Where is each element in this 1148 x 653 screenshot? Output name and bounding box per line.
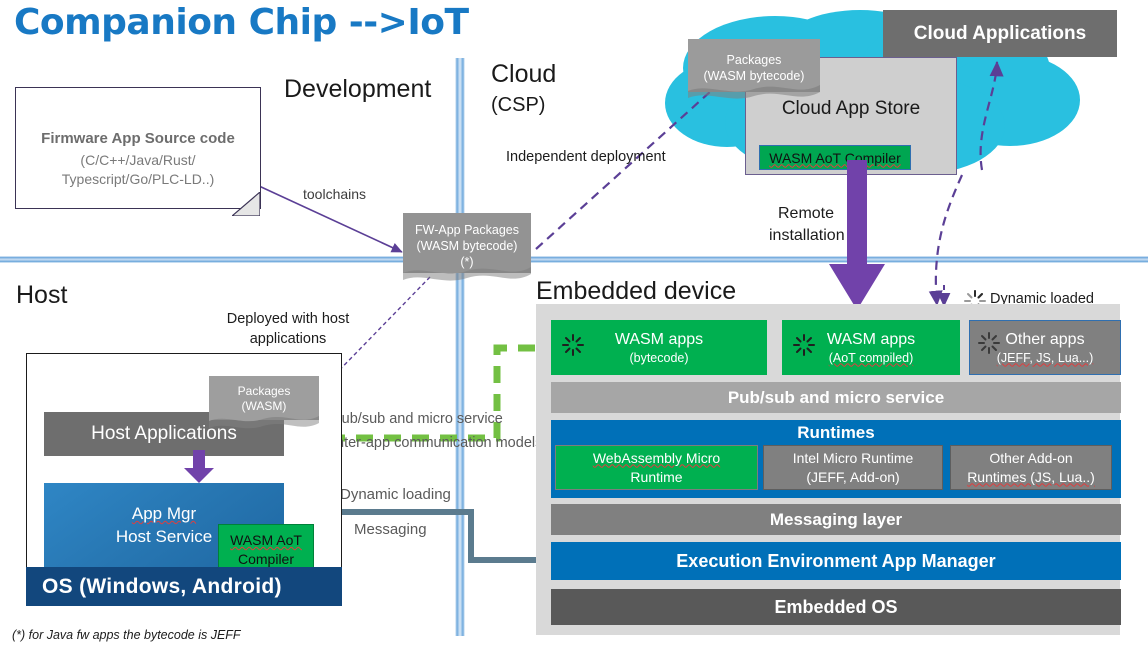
runtime-intel-micro[interactable]: Intel Micro Runtime (JEFF, Add-on) <box>763 445 943 490</box>
embedded-app-3-sub: (JEFF, JS, Lua...) <box>997 350 1094 366</box>
label-deployed-l2: applications <box>218 329 358 349</box>
callout-fw-packages-l1: FW-App Packages <box>415 222 519 238</box>
runtime-1-l1: WebAssembly Micro <box>593 449 720 468</box>
callout-host-packages-l1: Packages <box>238 384 291 399</box>
label-embedded-device: Embedded device <box>536 277 736 306</box>
firmware-source-box: Firmware App Source code (C/C++/Java/Rus… <box>15 87 261 209</box>
runtimes-header: Runtimes <box>551 423 1121 443</box>
callout-fw-packages-l3: (*) <box>415 254 519 270</box>
label-deployed-with-host: Deployed with host applications <box>218 309 358 349</box>
runtime-2-l2: (JEFF, Add-on) <box>806 468 899 487</box>
embedded-app-2-sub: (AoT compiled) <box>829 350 914 366</box>
runtime-2-l1: Intel Micro Runtime <box>793 449 914 468</box>
wasm-aot-host-l1: WASM AoT <box>230 531 302 550</box>
pubsub-micro-service-layer[interactable]: Pub/sub and micro service <box>551 382 1121 413</box>
firmware-source-line2: Typescript/Go/PLC-LD..) <box>62 170 215 189</box>
page-fold-icon <box>232 192 260 216</box>
messaging-layer-block[interactable]: Messaging layer <box>551 504 1121 535</box>
runtime-3-l1: Other Add-on <box>989 449 1072 468</box>
callout-host-packages-l2: (WASM) <box>238 399 291 414</box>
label-development: Development <box>284 75 431 104</box>
execution-environment-app-manager[interactable]: Execution Environment App Manager <box>551 542 1121 580</box>
runtime-1-l2: Runtime <box>630 468 682 487</box>
runtime-3-l2: Runtimes (JS, Lua..) <box>967 468 1095 487</box>
slide-canvas: Companion Chip -->IoT <box>0 0 1148 653</box>
spark-burst-icon <box>560 332 586 358</box>
callout-host-packages: Packages (WASM) <box>209 376 319 420</box>
runtime-webassembly-micro[interactable]: WebAssembly Micro Runtime <box>555 445 758 490</box>
runtime-other-addon[interactable]: Other Add-on Runtimes (JS, Lua..) <box>950 445 1112 490</box>
embedded-app-3-title: Other apps <box>1005 330 1084 350</box>
embedded-app-2-title: WASM apps <box>827 330 915 350</box>
host-os-bar: OS (Windows, Android) <box>26 567 342 606</box>
callout-cloud-packages: Packages (WASM bytecode) <box>688 39 820 92</box>
app-mgr-line1: App Mgr <box>132 502 196 525</box>
label-pubsub-micro-service-arrow: Pub/sub and micro service <box>332 411 503 427</box>
vertical-divider <box>455 58 465 636</box>
callout-cloud-packages-l1: Packages <box>704 52 805 68</box>
cloud-applications-block[interactable]: Cloud Applications <box>883 10 1117 57</box>
label-independent-deployment: Independent deployment <box>506 149 666 165</box>
host-flow-arrow <box>182 450 216 484</box>
callout-cloud-packages-l2: (WASM bytecode) <box>704 68 805 84</box>
horizontal-divider <box>0 256 1148 263</box>
label-cloud-sub: (CSP) <box>491 94 545 117</box>
cloud-app-store-label: Cloud App Store <box>746 98 956 120</box>
embedded-app-1-sub: (bytecode) <box>629 350 688 366</box>
callout-fw-packages-l2: (WASM bytecode) <box>415 238 519 254</box>
callout-fw-app-packages: FW-App Packages (WASM bytecode) (*) <box>403 213 531 273</box>
label-messaging: Messaging <box>354 521 427 538</box>
spark-burst-icon <box>791 332 817 358</box>
page-title: Companion Chip -->IoT <box>14 2 634 50</box>
remote-installation-arrow <box>825 160 889 312</box>
embedded-app-1-title: WASM apps <box>615 330 703 350</box>
label-toolchains: toolchains <box>303 186 366 202</box>
app-mgr-line2: Host Service <box>116 525 212 548</box>
spark-burst-icon <box>976 330 1002 356</box>
embedded-os-block[interactable]: Embedded OS <box>551 589 1121 625</box>
arrow-dynamic-loaded-device <box>936 175 962 305</box>
label-deployed-l1: Deployed with host <box>218 309 358 329</box>
label-inter-app-models-arrow: Inter-app communication models <box>332 435 542 451</box>
footnote: (*) for Java fw apps the bytecode is JEF… <box>12 628 241 642</box>
firmware-source-heading: Firmware App Source code <box>41 130 235 147</box>
label-dynamic-loading: Dynamic loading <box>340 486 451 503</box>
label-cloud: Cloud <box>491 60 556 89</box>
label-host: Host <box>16 281 67 310</box>
firmware-source-line1: (C/C++/Java/Rust/ <box>62 151 215 170</box>
